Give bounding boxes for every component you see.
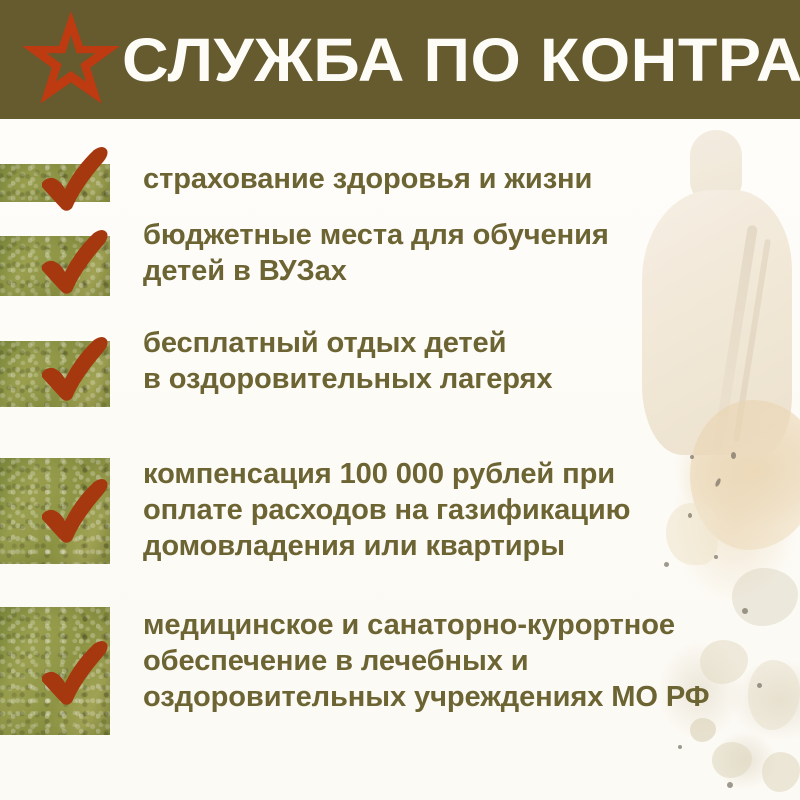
poster-canvas: СЛУЖБА ПО КОНТРАКТУ страхование здоровья…	[0, 0, 800, 800]
benefit-text: бюджетные места для обучения детей в ВУЗ…	[143, 217, 609, 289]
list-item: компенсация 100 000 рублей при оплате ра…	[0, 438, 800, 589]
check-mark-icon	[36, 226, 114, 296]
benefit-text: страхование здоровья и жизни	[143, 161, 592, 197]
list-item: бесплатный отдых детей в оздоровительных…	[0, 325, 800, 438]
benefit-text: медицинское и санаторно-курортное обеспе…	[143, 607, 709, 715]
page-title: СЛУЖБА ПО КОНТРАКТУ	[122, 29, 800, 91]
benefit-text: компенсация 100 000 рублей при оплате ра…	[143, 456, 630, 564]
check-mark-icon	[36, 143, 114, 213]
list-item: бюджетные места для обучения детей в ВУЗ…	[0, 212, 800, 325]
list-item: страхование здоровья и жизни	[0, 119, 800, 212]
red-star-icon	[18, 8, 124, 112]
header-band: СЛУЖБА ПО КОНТРАКТУ	[0, 0, 800, 119]
check-mark-icon	[36, 475, 114, 545]
check-mark-icon	[36, 637, 114, 707]
list-item: медицинское и санаторно-курортное обеспе…	[0, 589, 800, 749]
check-mark-icon	[36, 333, 114, 403]
benefits-list: страхование здоровья и жизни бюджетные м…	[0, 119, 800, 800]
benefit-text: бесплатный отдых детей в оздоровительных…	[143, 325, 552, 397]
